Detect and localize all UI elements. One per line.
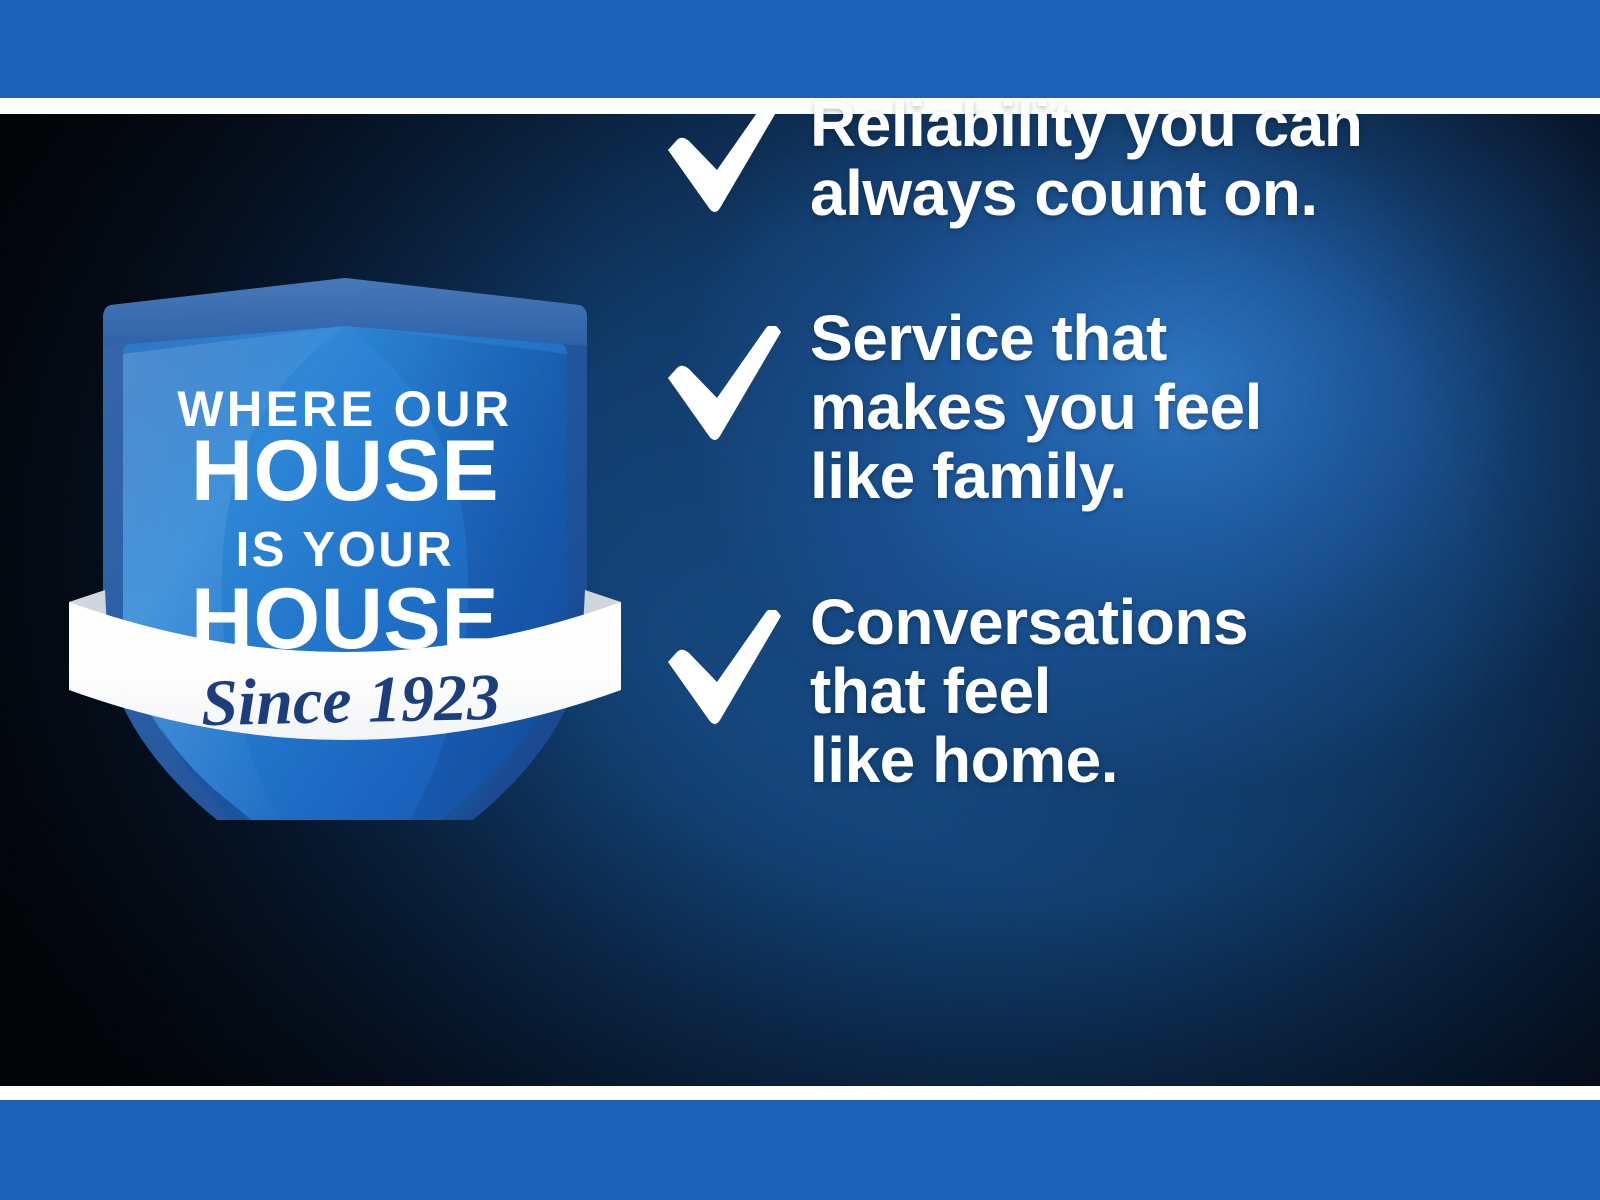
ribbon-text: Since 1923	[200, 661, 500, 740]
list-item: Reliability you can always count on.	[660, 90, 1510, 228]
list-item-label: Conversations that feel like home.	[810, 588, 1248, 795]
list-item: Conversations that feel like home.	[660, 588, 1510, 795]
promo-graphic: WHERE OUR HOUSE IS YOUR HOUSE Since 1923	[0, 0, 1600, 1200]
bottom-brand-bar	[0, 1100, 1600, 1200]
emblem-line-3: IS YOUR	[236, 523, 455, 577]
list-item-label: Reliability you can always count on.	[810, 90, 1362, 228]
list-item: Service that makes you feel like family.	[660, 304, 1510, 511]
checkmark-icon	[660, 304, 810, 447]
shield-emblem: WHERE OUR HOUSE IS YOUR HOUSE Since 1923	[55, 150, 635, 820]
checkmark-icon	[660, 588, 810, 731]
checkmark-icon	[660, 90, 810, 219]
top-brand-bar	[0, 0, 1600, 98]
emblem-line-2: HOUSE	[191, 423, 499, 519]
list-item-label: Service that makes you feel like family.	[810, 304, 1262, 511]
benefits-list: Reliability you can always count on. Ser…	[660, 90, 1510, 855]
